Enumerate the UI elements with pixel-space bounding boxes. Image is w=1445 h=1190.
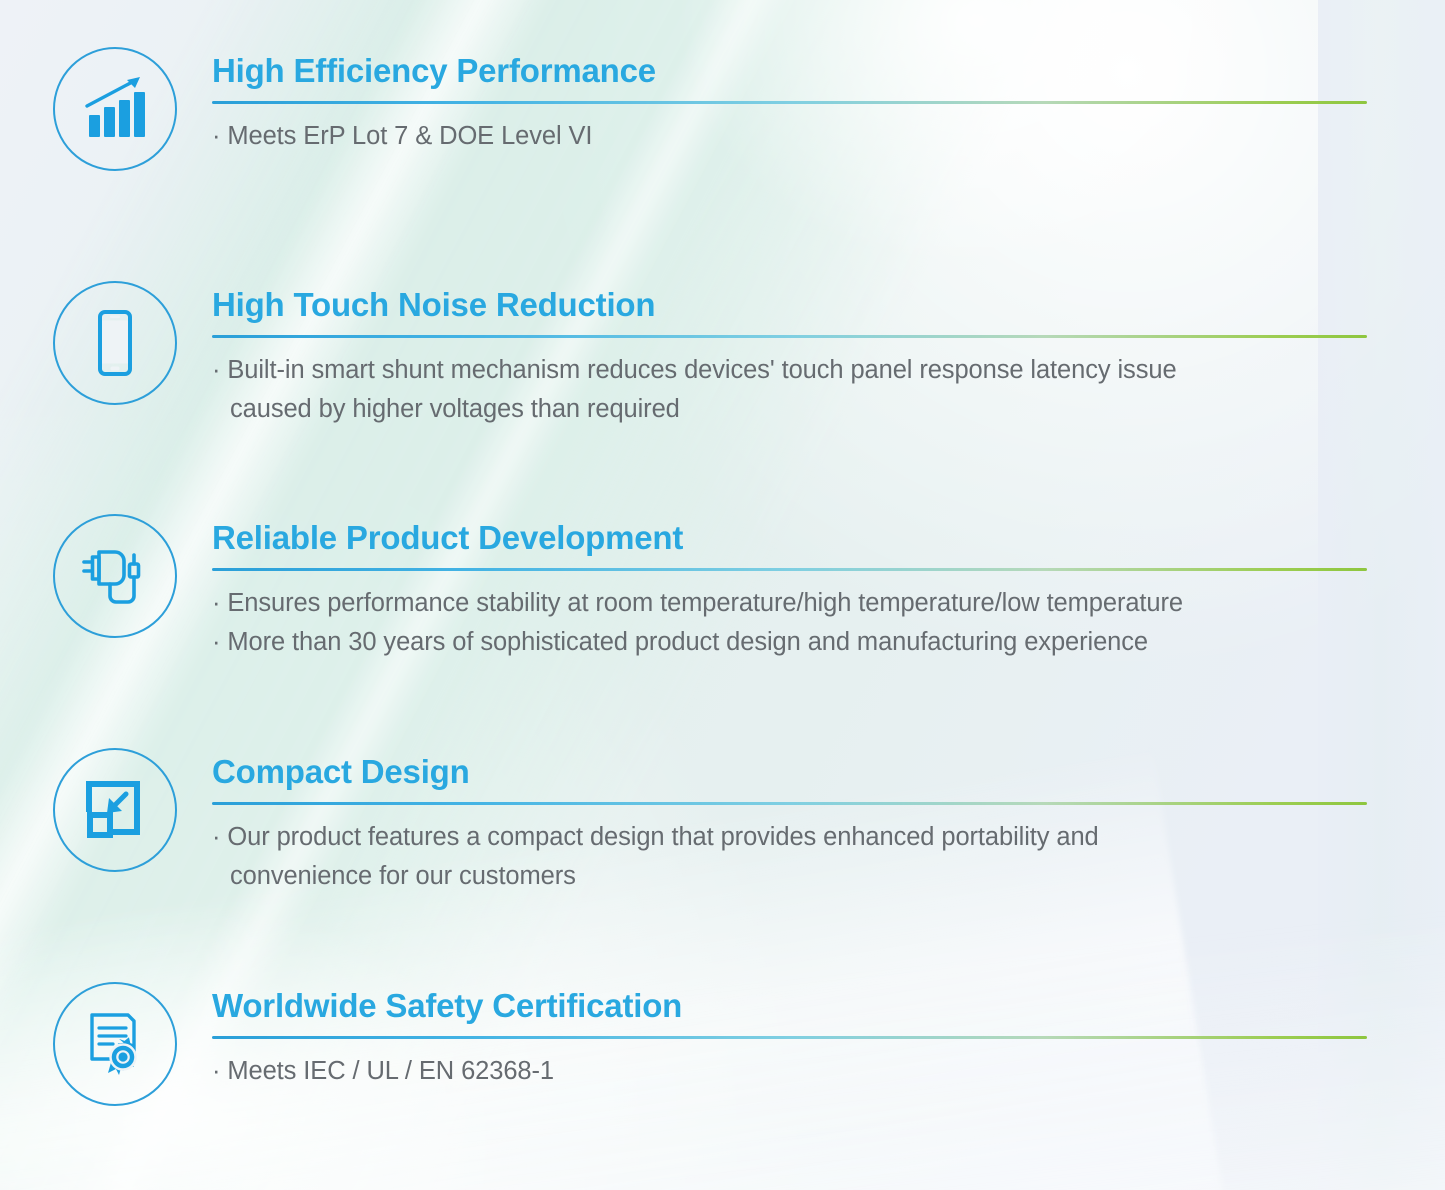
feature-title: Worldwide Safety Certification [212,988,1445,1024]
feature-bullet-line-continued: convenience for our customers [212,857,1445,895]
feature-description: · Our product features a compact design … [212,818,1445,895]
feature-bullet-line: · Built-in smart shunt mechanism reduces… [212,351,1445,389]
feature-content: Worldwide Safety Certification · Meets I… [212,982,1445,1091]
growth-bar-chart-icon [53,47,177,171]
compact-resize-icon [53,748,177,872]
feature-description: · Meets IEC / UL / EN 62368-1 [212,1052,1445,1090]
feature-divider [212,568,1367,571]
feature-bullet-line: · Meets IEC / UL / EN 62368-1 [212,1052,1445,1090]
smartphone-icon [53,281,177,405]
feature-row: Reliable Product Development · Ensures p… [0,514,1445,661]
feature-content: High Touch Noise Reduction · Built-in sm… [212,281,1445,428]
feature-title: High Efficiency Performance [212,53,1445,89]
feature-title: Compact Design [212,754,1445,790]
feature-bullet-line-continued: caused by higher voltages than required [212,390,1445,428]
feature-description: · Ensures performance stability at room … [212,584,1445,661]
feature-row: Compact Design · Our product features a … [0,748,1445,895]
feature-divider [212,335,1367,338]
feature-bullet-line: · Our product features a compact design … [212,818,1445,856]
feature-content: Reliable Product Development · Ensures p… [212,514,1445,661]
feature-title: High Touch Noise Reduction [212,287,1445,323]
feature-divider [212,802,1367,805]
power-adapter-icon [53,514,177,638]
certificate-seal-icon [53,982,177,1106]
feature-description: · Meets ErP Lot 7 & DOE Level VI [212,117,1445,155]
feature-row: High Touch Noise Reduction · Built-in sm… [0,281,1445,428]
feature-bullet-line: · Ensures performance stability at room … [212,584,1445,622]
feature-divider [212,101,1367,104]
feature-divider [212,1036,1367,1039]
feature-bullet-line: · Meets ErP Lot 7 & DOE Level VI [212,117,1445,155]
feature-content: Compact Design · Our product features a … [212,748,1445,895]
feature-description: · Built-in smart shunt mechanism reduces… [212,351,1445,428]
feature-row: High Efficiency Performance · Meets ErP … [0,47,1445,171]
feature-content: High Efficiency Performance · Meets ErP … [212,47,1445,156]
feature-title: Reliable Product Development [212,520,1445,556]
feature-bullet-line: · More than 30 years of sophisticated pr… [212,623,1445,661]
feature-row: Worldwide Safety Certification · Meets I… [0,982,1445,1106]
